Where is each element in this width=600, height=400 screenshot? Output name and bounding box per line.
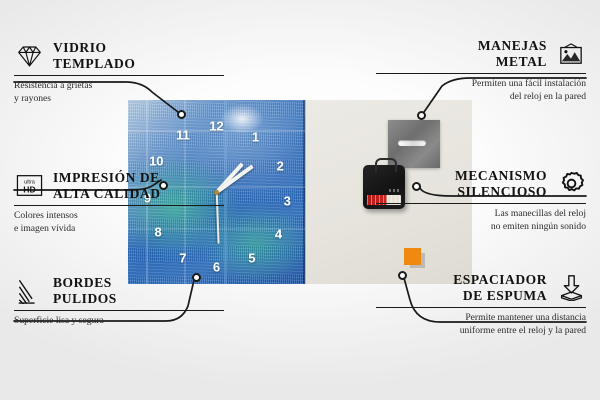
feature-title-line2: ALTA CALIDAD xyxy=(53,186,161,202)
clock-numeral-11: 11 xyxy=(176,128,190,141)
feature-espaciador-de-espuma: ESPACIADOR DE ESPUMA Permite mantener un… xyxy=(376,272,586,338)
picture-frame-icon xyxy=(556,39,586,69)
clock-numeral-5: 5 xyxy=(248,252,255,265)
ultra-hd-icon: ultra HD xyxy=(14,171,44,201)
clock-numeral-4: 4 xyxy=(275,228,282,241)
feature-subtitle-line2: no emiten ningún sonido xyxy=(376,221,586,234)
feature-title-line2: TEMPLADO xyxy=(53,56,135,72)
clock-numeral-3: 3 xyxy=(284,195,291,208)
feature-subtitle-line2: y rayones xyxy=(14,93,224,106)
feature-subtitle-line2: del reloj en la pared xyxy=(376,91,586,104)
feature-mecanismo-silencioso: MECANISMO SILENCIOSO Las manecillas del … xyxy=(376,168,586,234)
feature-subtitle-line2: uniforme entre el reloj y la pared xyxy=(376,325,586,338)
clock-numeral-1: 1 xyxy=(252,130,259,143)
feature-title-line1: VIDRIO xyxy=(53,40,135,56)
feature-title-line1: ESPACIADOR xyxy=(453,272,547,288)
foam-spacer-square xyxy=(404,248,421,265)
gear-icon xyxy=(556,169,586,199)
feature-title-line1: BORDES xyxy=(53,275,117,291)
feature-divider xyxy=(14,205,224,206)
feature-title-line2: DE ESPUMA xyxy=(453,288,547,304)
feature-subtitle-line1: Permiten una fácil instalación xyxy=(376,78,586,91)
feature-title-line1: MANEJAS xyxy=(478,38,547,54)
feature-title-line2: PULIDOS xyxy=(53,291,117,307)
feature-subtitle-line1: Permite mantener una distancia xyxy=(376,312,586,325)
callout-dot-vidrio-templado[interactable] xyxy=(177,110,186,119)
feature-subtitle-line1: Resistencia a grietas xyxy=(14,80,224,93)
feature-bordes-pulidos: BORDES PULIDOS Superficie lisa y segura xyxy=(14,275,224,328)
infographic-canvas: 12 1 2 3 4 5 6 7 8 9 10 11 xyxy=(0,0,600,400)
clock-numeral-12: 12 xyxy=(209,119,223,132)
feature-manejas-metal: MANEJAS METAL Permiten una fácil instala… xyxy=(376,38,586,104)
feature-title-line2: SILENCIOSO xyxy=(455,184,547,200)
feature-divider xyxy=(376,307,586,308)
clock-numeral-6: 6 xyxy=(213,261,220,274)
feature-subtitle-line1: Superficie lisa y segura xyxy=(14,315,224,328)
clock-numeral-2: 2 xyxy=(277,160,284,173)
svg-text:HD: HD xyxy=(23,185,35,195)
feature-title-line1: IMPRESIÓN DE xyxy=(53,170,161,186)
feature-title-line1: MECANISMO xyxy=(455,168,547,184)
feature-title-line2: METAL xyxy=(478,54,547,70)
feature-divider xyxy=(376,203,586,204)
foam-spacer-arrow-icon xyxy=(556,273,586,303)
feature-subtitle-line1: Colores intensos xyxy=(14,210,224,223)
clock-numeral-7: 7 xyxy=(179,252,186,265)
feature-vidrio-templado: VIDRIO TEMPLADO Resistencia a grietas y … xyxy=(14,40,224,106)
polished-edges-icon xyxy=(14,276,44,306)
diamond-icon xyxy=(14,41,44,71)
feature-divider xyxy=(14,75,224,76)
feature-divider xyxy=(14,310,224,311)
clock-numeral-10: 10 xyxy=(149,154,163,167)
hanger-slot xyxy=(398,140,426,146)
feature-subtitle-line2: e imagen vívida xyxy=(14,223,224,236)
feature-impresion-alta-calidad: ultra HD IMPRESIÓN DE ALTA CALIDAD Color… xyxy=(14,170,224,236)
feature-subtitle-line1: Las manecillas del reloj xyxy=(376,208,586,221)
feature-divider xyxy=(376,73,586,74)
callout-dot-manejas-metal[interactable] xyxy=(417,111,426,120)
